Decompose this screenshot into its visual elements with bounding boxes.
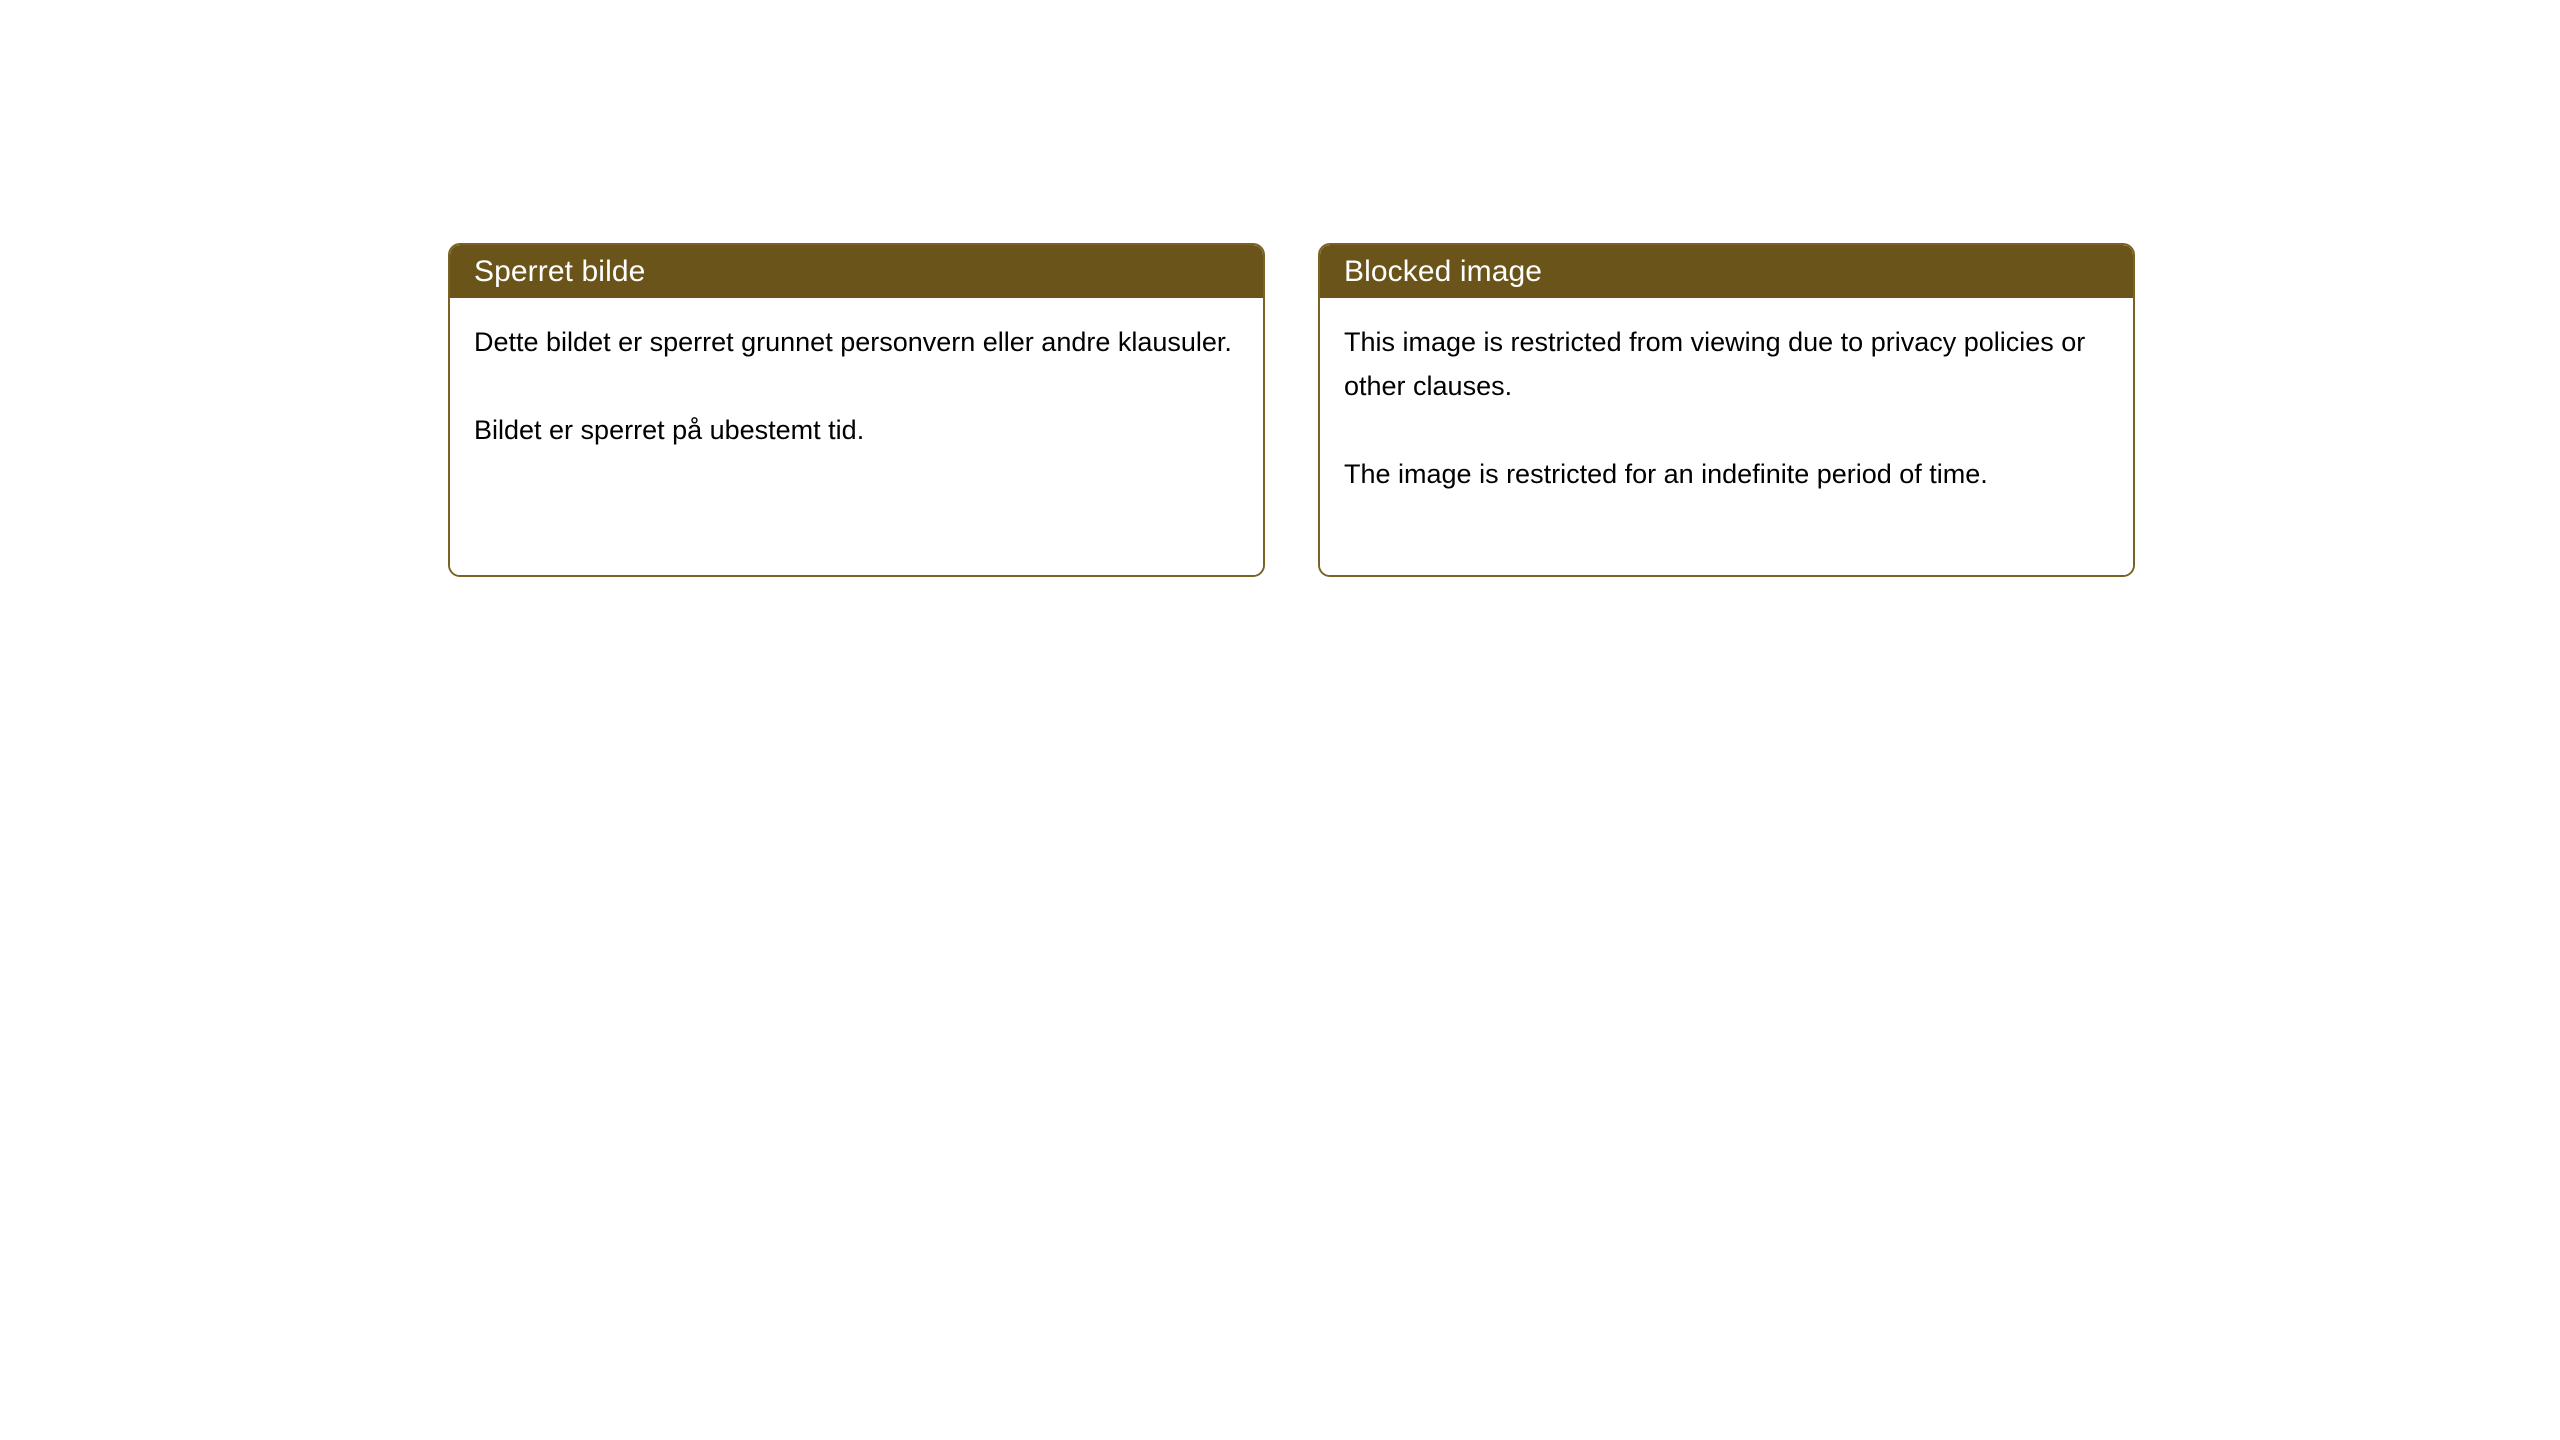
card-title: Blocked image [1344, 257, 1542, 287]
card-paragraph-primary: This image is restricted from viewing du… [1344, 320, 2109, 408]
card-header: Blocked image [1320, 245, 2133, 298]
card-body: Dette bildet er sperret grunnet personve… [450, 298, 1263, 575]
blocked-image-notice-card-english: Blocked image This image is restricted f… [1318, 243, 2135, 577]
card-paragraph-secondary: Bildet er sperret på ubestemt tid. [474, 408, 1239, 452]
blocked-image-notice-card-norwegian: Sperret bilde Dette bildet er sperret gr… [448, 243, 1265, 577]
card-body: This image is restricted from viewing du… [1320, 298, 2133, 575]
card-paragraph-primary: Dette bildet er sperret grunnet personve… [474, 320, 1239, 364]
card-paragraph-secondary: The image is restricted for an indefinit… [1344, 452, 2109, 496]
card-header: Sperret bilde [450, 245, 1263, 298]
card-title: Sperret bilde [474, 257, 645, 287]
page-canvas: Sperret bilde Dette bildet er sperret gr… [0, 0, 2560, 1440]
